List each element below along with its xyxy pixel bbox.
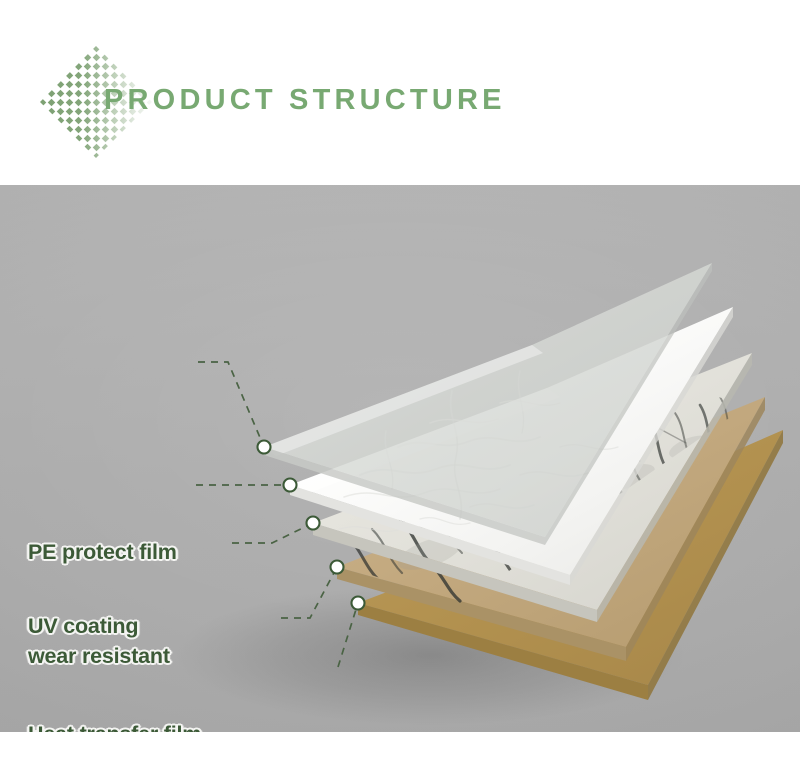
dot-pe-protect-film (258, 441, 271, 454)
label-pe-protect-film: PE protect film (28, 537, 177, 567)
leader-pe (198, 362, 264, 447)
page-title: PRODUCT STRUCTURE (104, 82, 506, 118)
header: PRODUCT STRUCTURE (0, 0, 800, 185)
label-uv-line2: wear resistant (28, 641, 170, 671)
dot-pvc-stone-base-board (331, 561, 344, 574)
product-structure-infographic: PRODUCT STRUCTURE (0, 0, 800, 764)
dot-heat-transfer-film (307, 517, 320, 530)
leader-heat (232, 523, 313, 543)
footer-whitespace (0, 732, 800, 764)
label-uv-line1: UV coating (28, 611, 170, 641)
label-heat-transfer-film: Heat transfer film (28, 719, 201, 732)
layer-diagram-stage: PE protect film UV coating wear resistan… (0, 185, 800, 732)
label-uv-coating: UV coating wear resistant (28, 611, 170, 671)
dot-uv-coating (284, 479, 297, 492)
dot-adhesive-layer (352, 597, 365, 610)
